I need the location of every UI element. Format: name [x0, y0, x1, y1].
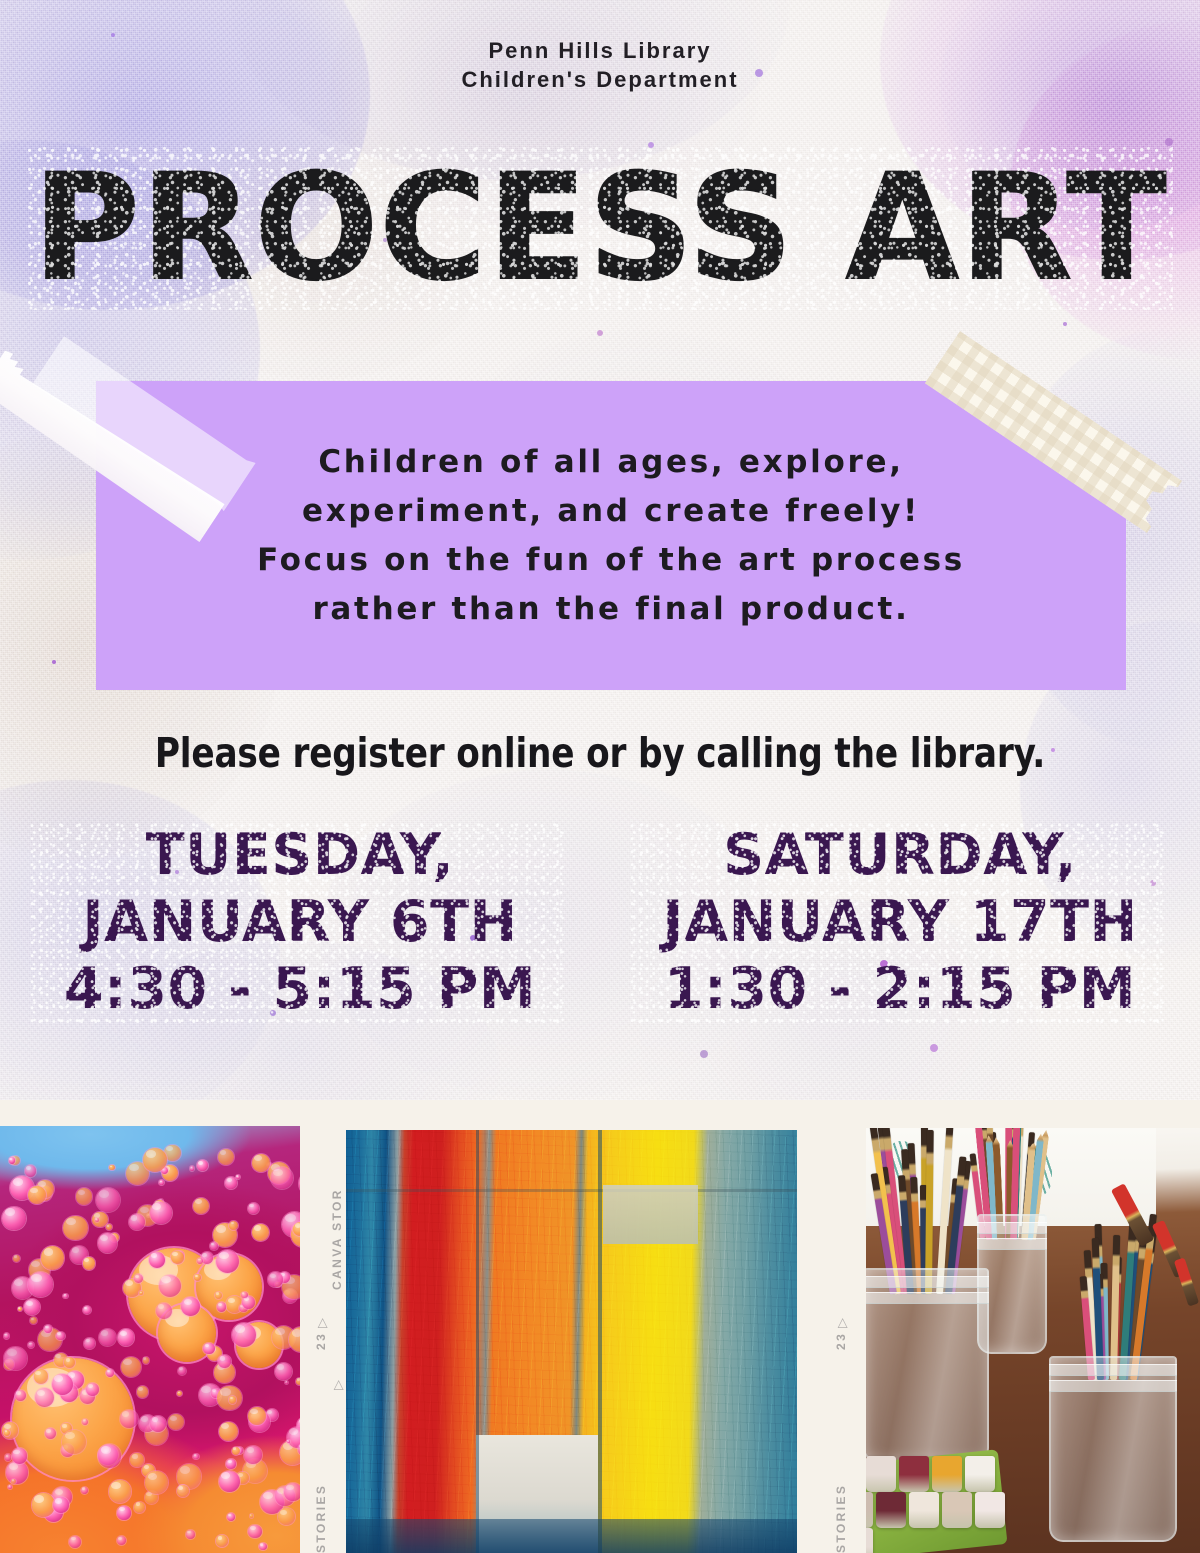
paint-bottle	[942, 1492, 972, 1528]
oil-bubble	[83, 1306, 91, 1314]
session-time: 1:30 - 2:15 PM	[630, 956, 1170, 1023]
watermark-number: 23	[834, 1332, 848, 1350]
oil-bubble	[226, 1459, 236, 1469]
oil-bubble	[8, 1485, 12, 1489]
oil-bubble	[32, 1493, 56, 1517]
oil-bubble	[193, 1454, 199, 1460]
oil-bubble	[109, 1480, 131, 1502]
oil-bubbles-photo	[0, 1100, 323, 1553]
page-title: PROCESS ART	[33, 152, 1167, 304]
oil-bubble	[30, 1317, 37, 1324]
oil-bubble	[98, 1233, 118, 1253]
oil-bubble	[219, 1471, 240, 1492]
session-time: 4:30 - 5:15 PM	[30, 956, 570, 1023]
paintbrush-jars-image	[837, 1128, 1200, 1553]
oil-bubble	[289, 1327, 300, 1352]
abstract-painting-photo	[323, 1100, 815, 1553]
oil-bubble	[28, 1186, 46, 1204]
oil-bubble	[149, 1252, 165, 1268]
oil-bubble	[81, 1487, 88, 1494]
oil-bubble	[216, 1535, 228, 1547]
paint-bottle	[975, 1492, 1005, 1528]
oil-bubble	[236, 1175, 240, 1179]
oil-bubble	[143, 1357, 150, 1364]
oil-bubble	[45, 1428, 56, 1439]
oil-bubble	[4, 1430, 10, 1436]
paint-stroke	[476, 1130, 479, 1553]
arrow-icon: ▷	[314, 1318, 330, 1328]
session-date: JANUARY 6TH	[30, 889, 570, 956]
oil-bubble	[129, 1214, 145, 1230]
oil-bubble	[145, 1471, 168, 1494]
watermark-canva-stories: CANVA STOR	[330, 1188, 344, 1290]
arrow-icon: ▷	[330, 1380, 346, 1390]
description-banner-text: Children of all ages, explore,experiment…	[96, 381, 1126, 690]
paint-bottle	[899, 1456, 929, 1492]
paint-stroke	[345, 1189, 797, 1192]
poster-canvas: Penn Hills Library Children's Department…	[0, 0, 1200, 1553]
arrow-icon: ▷	[834, 1318, 850, 1328]
oil-bubble	[118, 1329, 134, 1345]
watermark-number: 23	[314, 1332, 328, 1350]
oil-bubble	[218, 1355, 231, 1368]
oil-bubble	[225, 1177, 237, 1189]
oil-bubble	[106, 1224, 112, 1230]
photo-gutter-right: 23 ▷ STORIES	[820, 1100, 866, 1553]
oil-bubble	[248, 1525, 262, 1539]
oil-bubble	[287, 1440, 290, 1443]
oil-bubble	[117, 1506, 130, 1519]
oil-bubble	[6, 1461, 28, 1483]
watermark-stories: STORIES	[834, 1484, 848, 1553]
oil-bubble	[134, 1502, 145, 1513]
jar-rim	[977, 1222, 1047, 1234]
session-list: TUESDAY, JANUARY 6TH 4:30 - 5:15 PM SATU…	[0, 822, 1200, 1023]
oil-bubble	[13, 1255, 20, 1262]
paint-bottle	[876, 1492, 906, 1528]
oil-bubble	[52, 1374, 73, 1395]
oil-bubble	[159, 1180, 164, 1185]
oil-bubble	[137, 1386, 149, 1398]
oil-bubble	[177, 1391, 182, 1396]
register-instruction-text: Please register online or by calling the…	[155, 729, 1045, 777]
oil-bubble	[252, 1154, 270, 1172]
confetti-dot	[52, 660, 56, 664]
oil-bubble	[159, 1275, 181, 1297]
description-text: Children of all ages, explore,experiment…	[257, 438, 965, 634]
oil-bubble	[76, 1188, 92, 1204]
oil-bubble	[9, 1157, 16, 1164]
oil-bubble	[232, 1323, 256, 1347]
jar-rim	[1049, 1380, 1177, 1392]
jar-rim	[1049, 1364, 1177, 1376]
oil-bubble	[120, 1410, 138, 1428]
oil-bubble	[150, 1416, 166, 1432]
oil-bubble	[227, 1513, 235, 1521]
jar-rim	[977, 1238, 1047, 1250]
page-title-wrap: PROCESS ART	[0, 152, 1200, 304]
oil-bubble	[28, 1342, 34, 1348]
glass-jar	[1049, 1356, 1177, 1542]
paint-bottle	[866, 1456, 896, 1492]
oil-bubble	[278, 1508, 295, 1525]
description-line: experiment, and create freely!	[257, 487, 965, 536]
paint-stroke	[345, 1519, 797, 1553]
oil-bubble	[84, 1338, 94, 1348]
oil-bubble	[168, 1414, 184, 1430]
oil-bubble	[24, 1299, 40, 1315]
session-date: JANUARY 17TH	[630, 889, 1170, 956]
oil-bubble	[28, 1272, 53, 1297]
paintbrush-icon	[1174, 1257, 1199, 1306]
paint-bottle	[932, 1456, 962, 1492]
watermark-stories: STORIES	[314, 1484, 328, 1553]
oil-bubble	[121, 1357, 142, 1378]
paintbrush-jars-photo	[815, 1100, 1200, 1553]
jar-rim	[863, 1276, 989, 1288]
confetti-dot	[597, 330, 603, 336]
oil-bubble	[63, 1216, 87, 1240]
oil-bubble	[203, 1343, 214, 1354]
oil-bubble	[99, 1329, 116, 1346]
oil-bubble	[41, 1246, 65, 1270]
session-block-tuesday: TUESDAY, JANUARY 6TH 4:30 - 5:15 PM	[30, 822, 570, 1023]
oil-bubble	[210, 1242, 218, 1250]
oil-bubble	[252, 1224, 270, 1242]
oil-bubble	[268, 1272, 282, 1286]
jar-rim	[863, 1292, 989, 1304]
confetti-dot	[700, 1050, 708, 1058]
oil-bubble	[5, 1454, 11, 1460]
session-day: SATURDAY,	[630, 822, 1170, 889]
oil-bubble	[96, 1188, 121, 1213]
oil-bubble	[177, 1485, 189, 1497]
oil-bubble	[109, 1165, 114, 1170]
session-day: TUESDAY,	[30, 822, 570, 889]
abstract-painting-image	[345, 1130, 797, 1553]
oil-bubble	[63, 1294, 67, 1298]
paint-bottle	[909, 1492, 939, 1528]
oil-bubble	[248, 1407, 266, 1425]
oil-bubble	[229, 1221, 238, 1230]
oil-bubble	[275, 1363, 292, 1380]
description-line: rather than the final product.	[257, 585, 965, 634]
oil-bubble	[150, 1202, 172, 1224]
paint-bottle	[965, 1456, 995, 1492]
oil-bubble	[56, 1332, 65, 1341]
paint-stroke	[598, 1130, 602, 1553]
header-line-library: Penn Hills Library	[0, 36, 1200, 65]
oil-bubble	[248, 1203, 259, 1214]
oil-bubble	[98, 1444, 122, 1468]
organization-header: Penn Hills Library Children's Department	[0, 36, 1200, 94]
photo-strip: CANVA STOR ▷ 23 ▷ STORIES 23 ▷ STORIES	[0, 1100, 1200, 1553]
oil-bubble	[69, 1536, 81, 1548]
confetti-dot	[1063, 322, 1067, 326]
oil-bubble	[117, 1536, 126, 1545]
oil-bubble	[12, 1448, 27, 1463]
oil-bubble	[190, 1166, 194, 1170]
session-block-saturday: SATURDAY, JANUARY 17TH 1:30 - 2:15 PM	[630, 822, 1170, 1023]
oil-bubble	[4, 1333, 10, 1339]
glass-jar	[863, 1268, 989, 1462]
oil-bubble	[219, 1422, 238, 1441]
oil-bubble	[193, 1198, 209, 1214]
oil-bubble	[197, 1160, 208, 1171]
oil-bubble	[259, 1543, 266, 1550]
oil-bubble	[229, 1396, 236, 1403]
oil-bubble	[250, 1514, 254, 1518]
oil-bubble	[130, 1453, 143, 1466]
oil-bubble	[53, 1497, 69, 1513]
register-instruction: Please register online or by calling the…	[42, 726, 1158, 780]
oil-bubble	[62, 1430, 86, 1454]
oil-bubble	[83, 1257, 95, 1269]
oil-bubble	[186, 1530, 195, 1539]
oil-bubble	[244, 1446, 262, 1464]
oil-bubble	[25, 1165, 36, 1176]
oil-bubble	[217, 1302, 226, 1311]
oil-bubble	[18, 1307, 22, 1311]
oil-bubbles-image	[0, 1126, 300, 1553]
oil-bubble	[2, 1207, 26, 1231]
header-line-department: Children's Department	[0, 65, 1200, 94]
page-title-text: PROCESS ART	[33, 143, 1167, 313]
confetti-dot	[930, 1044, 938, 1052]
photo-gutter-left: CANVA STOR ▷ 23 ▷ STORIES	[300, 1100, 346, 1553]
oil-bubble	[178, 1367, 186, 1375]
oil-bubble	[284, 1483, 300, 1500]
description-line: Focus on the fun of the art process	[257, 536, 965, 585]
oil-bubble	[285, 1381, 288, 1384]
oil-bubble	[218, 1149, 234, 1165]
description-line: Children of all ages, explore,	[257, 438, 965, 487]
paint-stroke	[603, 1185, 698, 1244]
oil-bubble	[34, 1369, 49, 1384]
oil-bubble	[241, 1292, 248, 1299]
oil-bubble	[4, 1347, 26, 1369]
oil-bubble	[271, 1167, 293, 1189]
